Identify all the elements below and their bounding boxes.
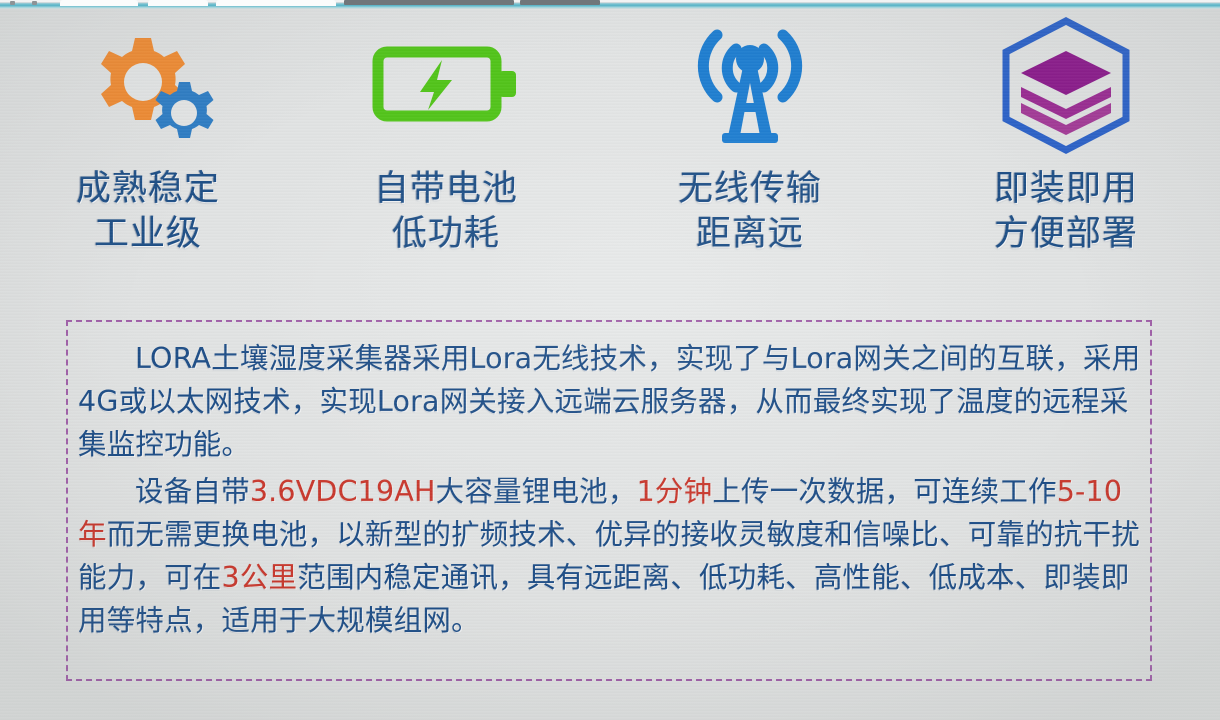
highlighted-spec: 1分钟: [637, 475, 713, 508]
chrome-tab[interactable]: [148, 0, 208, 6]
feature-row: 成熟稳定 工业级 自带电池 低功耗: [0, 15, 1220, 285]
chrome-dot: [10, 1, 15, 5]
chrome-tab[interactable]: [216, 0, 336, 6]
feature-item-wireless-transmission: 无线传输 距离远: [596, 15, 904, 257]
highlighted-spec: 3.6VDC19AH: [250, 475, 436, 508]
gears-icon: [73, 15, 223, 155]
description-segment: LORA土壤湿度采集器采用Lora无线技术，实现了与Lora网关之间的互联，采用…: [78, 342, 1140, 461]
description-paragraph-1: LORA土壤湿度采集器采用Lora无线技术，实现了与Lora网关之间的互联，采用…: [78, 337, 1148, 466]
top-app-chrome-strip: [0, 0, 1220, 9]
battery-bolt-icon: [366, 15, 526, 155]
chrome-tab[interactable]: [60, 0, 138, 6]
chrome-address-bar[interactable]: [520, 0, 600, 5]
description-segment: 设备自带: [135, 475, 250, 508]
feature-item-built-in-battery: 自带电池 低功耗: [292, 15, 600, 257]
chrome-dot: [32, 1, 37, 5]
description-segment: 大容量锂电池，: [436, 475, 637, 508]
antenna-tower-icon: [670, 15, 830, 155]
description-segment: 上传一次数据，可连续工作: [712, 475, 1056, 508]
feature-label: 成熟稳定 工业级: [76, 167, 220, 257]
slide-page: 成熟稳定 工业级 自带电池 低功耗: [0, 9, 1220, 720]
hexagon-layers-icon: [991, 15, 1141, 155]
description-paragraph-2: 设备自带3.6VDC19AH大容量锂电池，1分钟上传一次数据，可连续工作5-10…: [78, 470, 1148, 642]
feature-item-mature-stable: 成熟稳定 工业级: [0, 15, 302, 257]
feature-label: 自带电池 低功耗: [374, 167, 518, 257]
feature-item-plug-and-play: 即装即用 方便部署: [912, 15, 1220, 257]
feature-label: 无线传输 距离远: [678, 167, 822, 257]
feature-label: 即装即用 方便部署: [994, 167, 1138, 257]
description-text: LORA土壤湿度采集器采用Lora无线技术，实现了与Lora网关之间的互联，采用…: [78, 337, 1148, 646]
highlighted-spec: 3公里: [222, 561, 298, 594]
chrome-address-bar[interactable]: [344, 0, 514, 5]
